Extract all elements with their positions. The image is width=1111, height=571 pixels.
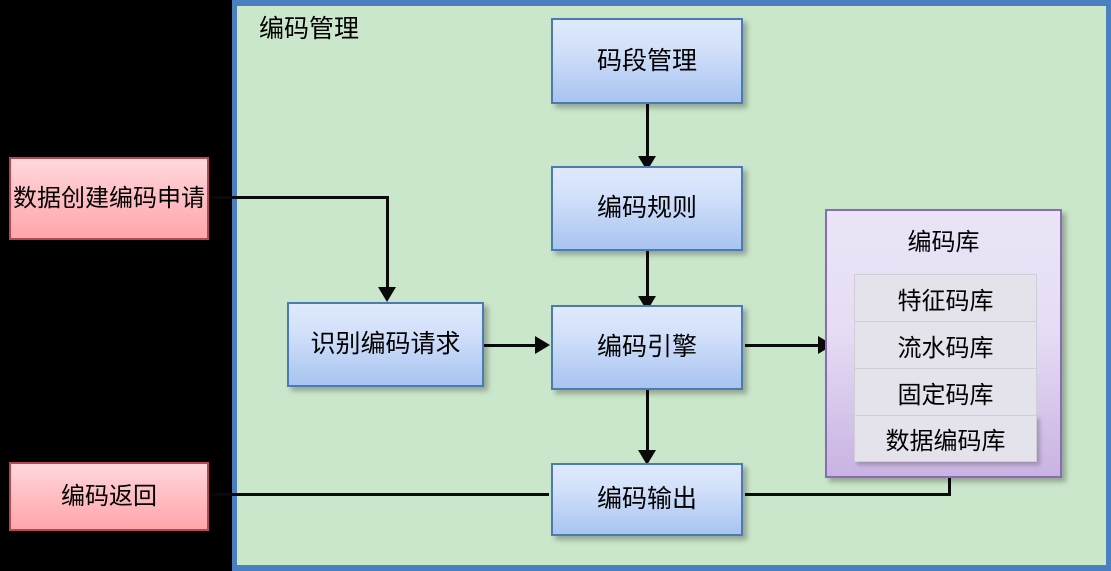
connector-segment-to-rule bbox=[646, 104, 649, 158]
node-identify-code-request[interactable]: 识别编码请求 bbox=[287, 302, 484, 387]
list-item-feature-code-library[interactable]: 特征码库 bbox=[854, 274, 1037, 321]
connector-rule-to-engine bbox=[646, 251, 649, 300]
arrowhead-engine-left bbox=[535, 336, 550, 354]
node-code-segment-management[interactable]: 码段管理 bbox=[551, 18, 743, 104]
code-library-panel: 编码库 特征码库 流水码库 固定码库 数据编码库 bbox=[825, 209, 1062, 478]
code-library-list: 特征码库 流水码库 固定码库 数据编码库 bbox=[854, 274, 1037, 462]
diagram-canvas: 编码管理 数据创建编码申请 编码返回 码段管理 编码规则 识别编码请求 编码引擎… bbox=[0, 0, 1111, 571]
node-data-create-request[interactable]: 数据创建编码申请 bbox=[9, 157, 209, 240]
node-coding-rule[interactable]: 编码规则 bbox=[551, 166, 743, 251]
connector-identify-to-engine bbox=[484, 344, 538, 347]
connector-engine-to-output bbox=[646, 390, 649, 452]
list-item-data-code-library[interactable]: 数据编码库 bbox=[854, 415, 1037, 462]
list-item-serial-code-library[interactable]: 流水码库 bbox=[854, 321, 1037, 368]
connector-request-horizontal bbox=[209, 196, 389, 199]
list-item-fixed-code-library[interactable]: 固定码库 bbox=[854, 368, 1037, 415]
code-library-title: 编码库 bbox=[827, 222, 1060, 257]
connector-output-to-library-horizontal bbox=[745, 493, 951, 496]
connector-output-to-return bbox=[209, 493, 549, 496]
node-code-return[interactable]: 编码返回 bbox=[9, 462, 209, 531]
container-title: 编码管理 bbox=[259, 14, 359, 44]
connector-engine-to-library bbox=[745, 344, 823, 347]
arrowhead-to-identify-request bbox=[378, 287, 396, 302]
node-coding-engine[interactable]: 编码引擎 bbox=[551, 305, 743, 390]
node-coding-output[interactable]: 编码输出 bbox=[551, 463, 743, 536]
connector-request-vertical bbox=[386, 196, 389, 288]
